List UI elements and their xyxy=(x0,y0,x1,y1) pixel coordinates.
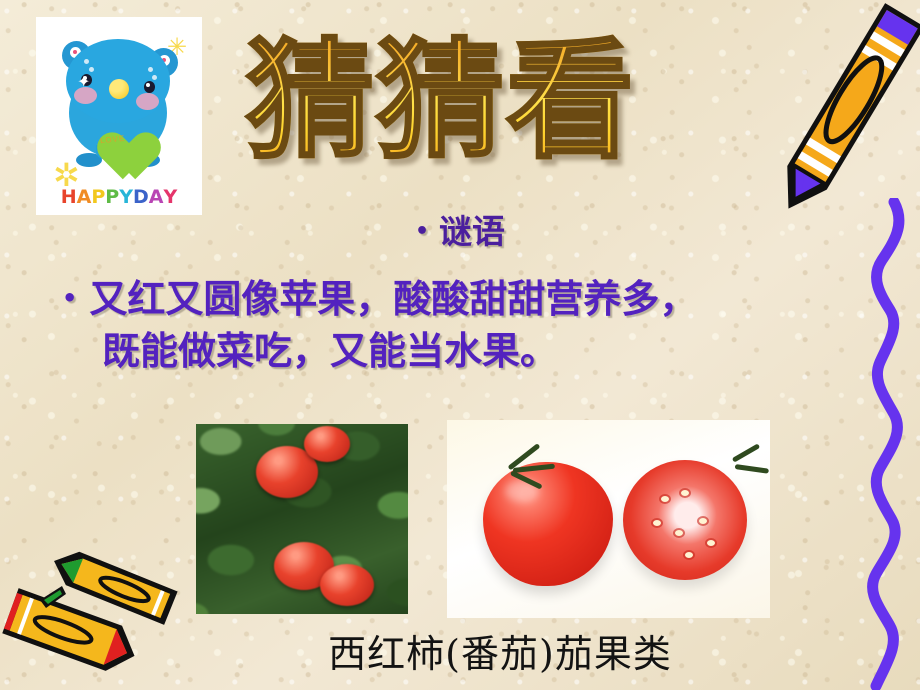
happyday-letter: P xyxy=(91,186,105,208)
happyday-letter: Y xyxy=(119,186,133,208)
riddle-body: •又红又圆像苹果，酸酸甜甜营养多， 既能做菜吃，又能当水果。 xyxy=(62,272,862,377)
tomato-stem xyxy=(735,464,769,474)
heart-icon: LOVE xyxy=(88,113,144,163)
tomato-fruit xyxy=(304,426,350,462)
tomato-fruit xyxy=(320,564,374,606)
tomato-seed xyxy=(661,496,669,502)
tomato-seed xyxy=(699,518,707,524)
happyday-letter: H xyxy=(61,186,77,208)
happyday-text: HAPPYDAY xyxy=(36,186,202,208)
riddle-label-text: 谜语 xyxy=(439,212,505,251)
tomato-seed xyxy=(681,490,689,496)
bear-sparkle-icon xyxy=(152,75,157,80)
riddle-line-1: 又红又圆像苹果，酸酸甜甜营养多， xyxy=(89,277,697,321)
tomato-seed xyxy=(675,530,683,536)
tomato-stem xyxy=(732,443,760,462)
tomato-seed xyxy=(707,540,715,546)
happyday-bear-image: ✳ ✦ LOVE ✲ HAPPYDAY xyxy=(36,17,202,215)
tomato-seed xyxy=(653,520,661,526)
purple-squiggle-line xyxy=(836,198,920,690)
riddle-line-2: 既能做菜吃，又能当水果。 xyxy=(102,325,862,377)
happyday-letter: D xyxy=(133,186,149,208)
happyday-letter: Y xyxy=(164,186,178,208)
bullet-icon: • xyxy=(62,284,77,312)
bear-sparkle-icon xyxy=(148,67,153,72)
happyday-letter: A xyxy=(77,186,92,208)
crayons-pair-icon xyxy=(0,536,186,690)
tomato-closeup-photo xyxy=(447,420,770,618)
heart-label: LOVE xyxy=(100,134,126,146)
image-caption: 西红柿(番茄)茄果类 xyxy=(240,623,760,678)
presentation-slide: ✳ ✦ LOVE ✲ HAPPYDAY 猜猜看 xyxy=(0,0,920,690)
riddle-label: •谜语 xyxy=(250,205,670,253)
bear-eye-right-icon xyxy=(144,81,155,93)
bear-nose-icon xyxy=(109,79,129,99)
halved-tomato xyxy=(623,460,747,580)
slide-title: 猜猜看 xyxy=(246,22,666,187)
happyday-letter: A xyxy=(149,186,164,208)
tomato-seed xyxy=(685,552,693,558)
whole-tomato xyxy=(483,462,613,586)
tomato-vine-photo xyxy=(196,424,408,614)
happyday-letter: P xyxy=(105,186,119,208)
white-star-icon: ✦ xyxy=(77,75,90,91)
bear-sparkle-icon xyxy=(84,59,89,64)
bear-cheek-right-icon xyxy=(136,93,159,110)
bear-sparkle-icon xyxy=(89,67,94,72)
bullet-icon: • xyxy=(415,219,429,244)
